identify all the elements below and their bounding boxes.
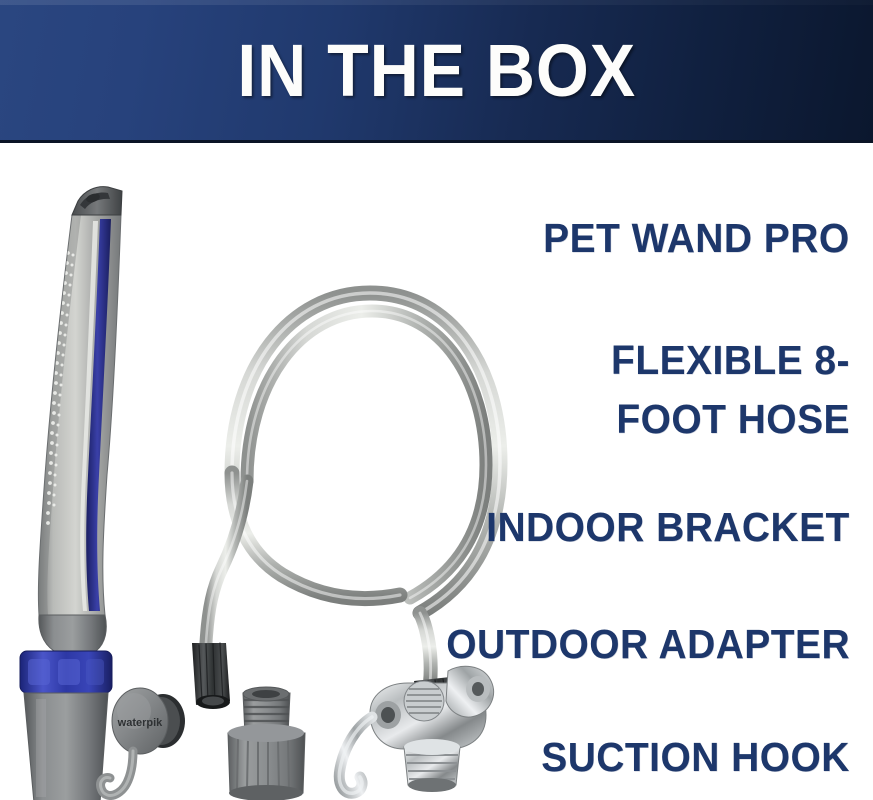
label-indoor-bracket: INDOOR BRACKET (486, 505, 850, 549)
contents-label-list: PET WAND PRO FLEXIBLE 8-FOOT HOSE INDOOR… (430, 143, 850, 800)
label-suction-hook: SUCTION HOOK (541, 735, 850, 779)
adapter-base (228, 724, 305, 800)
wand-spray-tip (72, 187, 122, 215)
suction-hook-illustration: waterpik (101, 688, 185, 795)
page-title: IN THE BOX (237, 34, 636, 108)
in-the-box-infographic: IN THE BOX (0, 0, 873, 800)
hose-connector-left (192, 643, 230, 709)
wand-collar (20, 651, 112, 693)
label-outdoor-adapter: OUTDOOR ADAPTER (446, 622, 850, 666)
label-pet-wand-pro: PET WAND PRO (543, 216, 850, 260)
label-flexible-hose: FLEXIBLE 8-FOOT HOSE (508, 331, 850, 450)
header-banner: IN THE BOX (0, 0, 873, 143)
suction-hook-brand-label: waterpik (117, 717, 164, 729)
pet-wand-pro-illustration (20, 187, 122, 800)
outdoor-adapter-illustration (228, 687, 305, 800)
